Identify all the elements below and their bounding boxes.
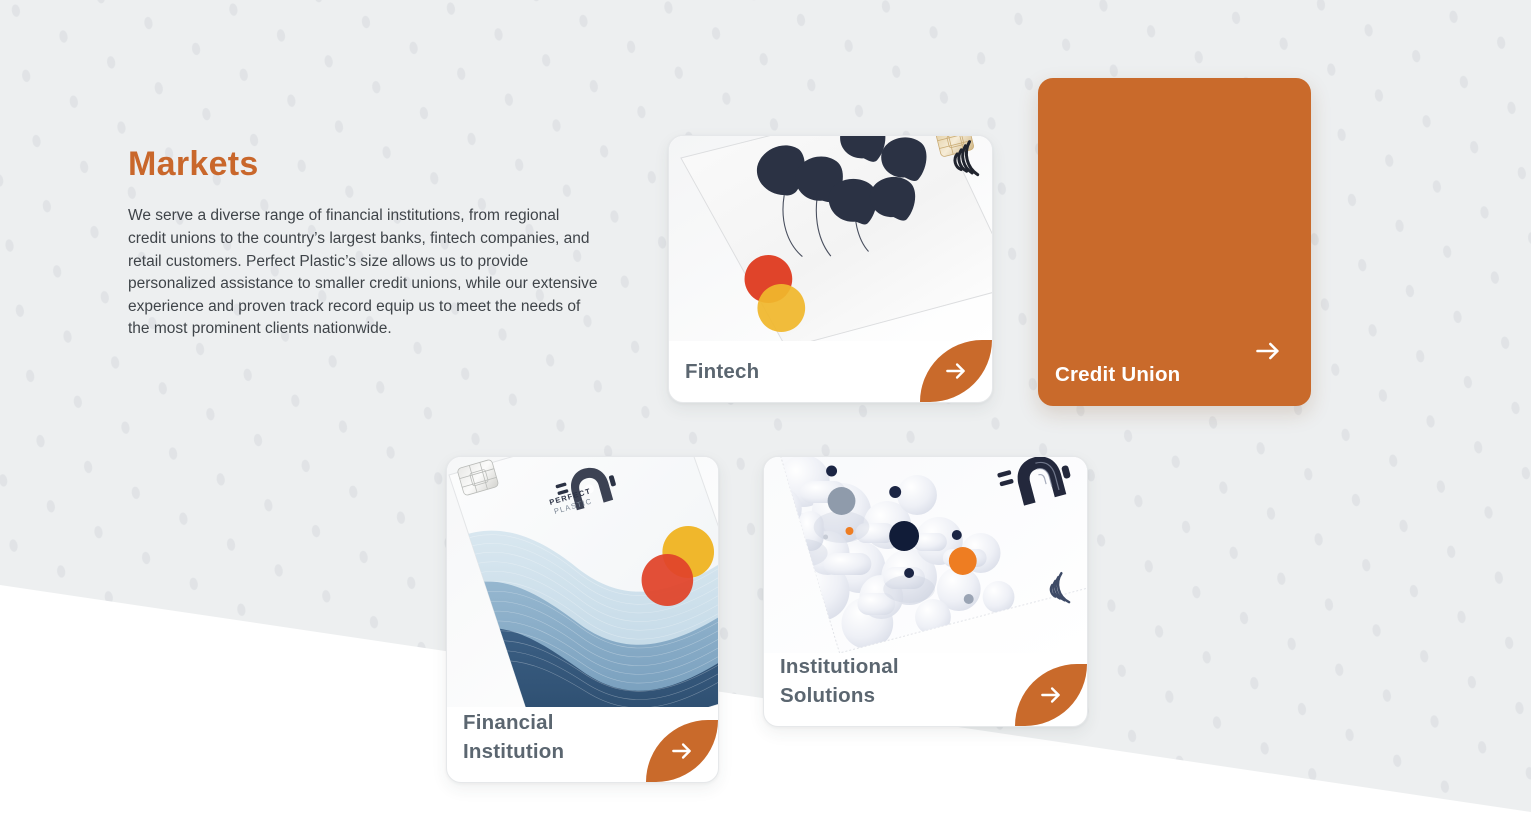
market-card-financial-institution[interactable]: PERFECT PLASTIC Financial Institution bbox=[446, 456, 719, 783]
markets-section: Markets We serve a diverse range of fina… bbox=[0, 0, 1531, 837]
credit-card-ginkgo-artwork bbox=[669, 136, 992, 341]
markets-copy-block: Markets We serve a diverse range of fina… bbox=[128, 146, 608, 341]
fintech-card-media bbox=[669, 136, 992, 341]
arrow-right-icon[interactable] bbox=[920, 340, 992, 402]
card-label-credit-union: Credit Union bbox=[1039, 360, 1250, 405]
market-card-credit-union[interactable]: Credit Union bbox=[1038, 78, 1311, 406]
market-card-institutional-solutions[interactable]: Institutional Solutions bbox=[763, 456, 1088, 727]
financial-card-media: PERFECT PLASTIC bbox=[447, 457, 718, 707]
credit-card-white-blobs-artwork bbox=[764, 457, 1087, 653]
arrow-right-icon[interactable] bbox=[1254, 337, 1282, 365]
credit-card-blue-waves-artwork: PERFECT PLASTIC bbox=[447, 457, 718, 707]
section-description: We serve a diverse range of financial in… bbox=[128, 205, 600, 341]
institutional-card-media bbox=[764, 457, 1087, 653]
card-label-fintech: Fintech bbox=[669, 357, 829, 402]
card-label-institutional-solutions: Institutional Solutions bbox=[764, 652, 969, 726]
arrow-right-icon[interactable] bbox=[646, 720, 718, 782]
market-card-fintech[interactable]: Fintech bbox=[668, 135, 993, 403]
page-title: Markets bbox=[128, 146, 608, 183]
card-label-financial-institution: Financial Institution bbox=[447, 708, 634, 782]
arrow-right-icon[interactable] bbox=[1015, 664, 1087, 726]
